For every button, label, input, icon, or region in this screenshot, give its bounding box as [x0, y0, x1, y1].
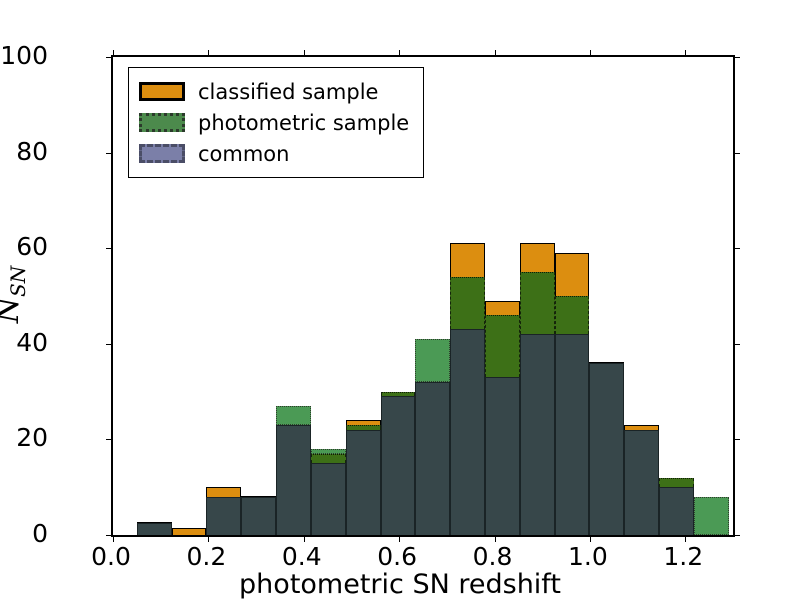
bar-segment-classified: [137, 522, 172, 523]
y-tick-mark: [106, 439, 113, 440]
histogram-bar: [694, 497, 729, 535]
histogram-bar: [589, 368, 624, 535]
bar-segment-classified: [450, 243, 485, 276]
y-tick-mark: [106, 535, 113, 536]
bar-segment-photometric-only: [694, 497, 729, 535]
bar-segment-classified: [520, 243, 555, 272]
x-tick-mark: [113, 535, 114, 542]
histogram-bar: [450, 243, 485, 535]
bar-segment-common: [520, 334, 555, 535]
legend: classified sample photometric sample com…: [128, 67, 424, 178]
y-tick-mark: [106, 248, 113, 249]
histogram-bar: [241, 497, 276, 535]
histogram-bar: [659, 478, 694, 535]
y-tick-mark-right: [733, 535, 740, 536]
bar-segment-photometric: [485, 315, 520, 377]
legend-swatch-classified-icon: [139, 82, 185, 101]
x-tick-label: 0.4: [257, 544, 347, 569]
bar-segment-classified: [241, 496, 276, 497]
legend-label-common: common: [198, 142, 289, 166]
bar-segment-photometric-only: [311, 449, 346, 454]
y-axis-title-base: N: [0, 297, 26, 323]
histogram-bar: [624, 425, 659, 535]
y-tick-mark: [106, 344, 113, 345]
x-tick-mark-top: [495, 50, 496, 57]
x-tick-label: 0.8: [448, 544, 538, 569]
histogram-bar: [311, 449, 346, 535]
y-tick-label: 20: [0, 425, 48, 450]
x-tick-mark: [208, 535, 209, 542]
plot-frame: classified sample photometric sample com…: [111, 55, 735, 537]
bar-segment-common: [346, 430, 381, 535]
histogram-bar: [137, 523, 172, 535]
histogram-bar: [172, 528, 207, 535]
histogram-figure: NSN classified sample photometric sample…: [0, 0, 800, 600]
x-tick-mark-top: [304, 50, 305, 57]
x-tick-label: 1.2: [638, 544, 728, 569]
legend-item-photometric: photometric sample: [139, 107, 409, 138]
bar-segment-common: [450, 329, 485, 535]
bar-segment-common: [624, 430, 659, 535]
legend-label-photometric: photometric sample: [198, 111, 409, 135]
y-axis-title: NSN: [0, 266, 30, 323]
bar-segment-common: [311, 463, 346, 535]
x-axis-title: photometric SN redshift: [0, 569, 800, 600]
x-tick-mark: [399, 535, 400, 542]
x-tick-mark: [590, 535, 591, 542]
legend-swatch-common-icon: [139, 144, 185, 163]
y-tick-mark-right: [733, 57, 740, 58]
bar-segment-photometric-only: [276, 406, 311, 425]
y-tick-mark-right: [733, 439, 740, 440]
x-tick-mark: [495, 535, 496, 542]
bar-segment-classified: [624, 425, 659, 430]
histogram-bar: [555, 253, 590, 535]
histogram-bar: [415, 339, 450, 535]
legend-item-common: common: [139, 138, 409, 169]
y-tick-label: 60: [0, 234, 48, 259]
bar-segment-photometric: [450, 277, 485, 330]
x-tick-mark-top: [399, 50, 400, 57]
histogram-bar: [381, 392, 416, 535]
bar-segment-photometric: [311, 454, 346, 464]
bar-segment-photometric: [381, 392, 416, 397]
bar-segment-common: [415, 382, 450, 535]
bar-segment-classified: [206, 487, 241, 497]
histogram-bar: [485, 301, 520, 535]
bar-segment-common: [659, 487, 694, 535]
x-tick-mark: [304, 535, 305, 542]
x-tick-label: 0.2: [161, 544, 251, 569]
x-tick-label: 0.6: [352, 544, 442, 569]
histogram-bar: [520, 243, 555, 535]
bar-segment-common: [555, 334, 590, 535]
bar-segment-common: [485, 377, 520, 535]
bar-segment-classified: [172, 528, 207, 535]
legend-swatch-photometric-icon: [139, 113, 185, 132]
x-tick-mark: [685, 535, 686, 542]
bar-segment-classified: [346, 420, 381, 425]
y-tick-label: 100: [0, 43, 48, 68]
bar-segment-photometric: [346, 425, 381, 430]
x-tick-mark-top: [685, 50, 686, 57]
bar-segment-common: [137, 523, 172, 535]
y-tick-mark-right: [733, 344, 740, 345]
bar-segment-common: [206, 497, 241, 535]
bar-segment-photometric: [659, 478, 694, 488]
x-tick-label: 0.0: [66, 544, 156, 569]
legend-item-classified: classified sample: [139, 76, 409, 107]
bar-segment-common: [241, 497, 276, 535]
bar-segment-common: [276, 425, 311, 535]
histogram-bar: [346, 420, 381, 535]
bar-segment-common: [381, 396, 416, 535]
histogram-bar: [276, 406, 311, 535]
legend-label-classified: classified sample: [198, 80, 378, 104]
y-tick-mark: [106, 153, 113, 154]
bar-segment-photometric: [555, 296, 590, 334]
y-tick-mark-right: [733, 248, 740, 249]
y-tick-mark: [106, 57, 113, 58]
bar-segment-photometric: [520, 272, 555, 334]
bar-segment-classified: [485, 301, 520, 315]
x-tick-mark-top: [113, 50, 114, 57]
histogram-bar: [206, 487, 241, 535]
y-tick-mark-right: [733, 153, 740, 154]
x-tick-mark-top: [590, 50, 591, 57]
y-tick-label: 0: [0, 521, 48, 546]
x-tick-label: 1.0: [543, 544, 633, 569]
y-tick-label: 40: [0, 330, 48, 355]
x-tick-mark-top: [208, 50, 209, 57]
bar-segment-photometric-only: [415, 339, 450, 382]
y-axis-title-subscript: SN: [6, 266, 30, 297]
bar-segment-classified: [555, 253, 590, 296]
bar-segment-classified: [589, 362, 624, 363]
y-tick-label: 80: [0, 139, 48, 164]
bar-segment-common: [589, 363, 624, 535]
